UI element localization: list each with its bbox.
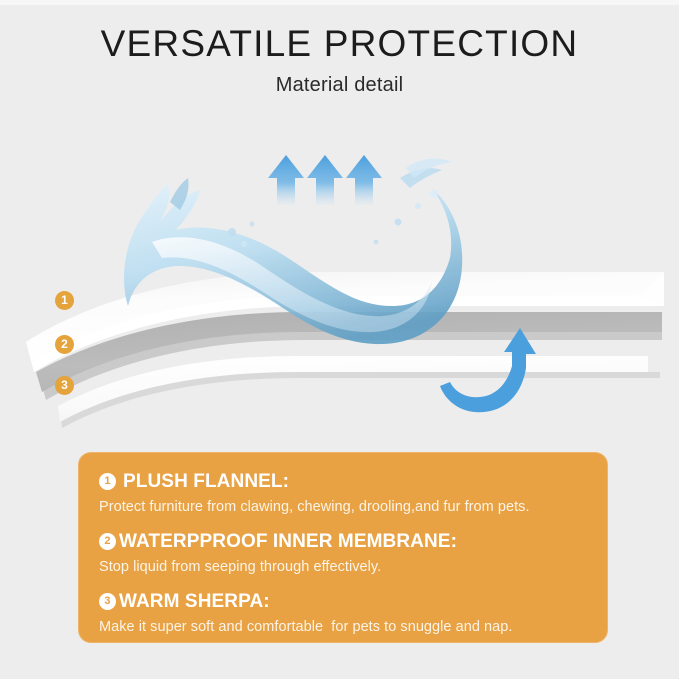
feature-description-2: Stop liquid from seeping through effecti…	[99, 556, 587, 578]
header: VERSATILE PROTECTION Material detail	[0, 22, 679, 98]
top-edge-strip	[0, 0, 679, 5]
feature-heading: 1 PLUSH FLANNEL:	[99, 469, 587, 494]
diagram-badge-3: 3	[55, 376, 74, 395]
feature-title-2: WATERPPROOF INNER MEMBRANE:	[119, 529, 457, 554]
feature-description-1: Protect furniture from clawing, chewing,…	[99, 496, 587, 518]
feature-heading: 2 WATERPPROOF INNER MEMBRANE:	[99, 529, 587, 554]
material-layers-diagram: 1 2 3	[0, 110, 679, 430]
feature-title-3: WARM SHERPA:	[119, 589, 270, 614]
feature-description-3: Make it super soft and comfortable for p…	[99, 616, 587, 638]
feature-item-plush-flannel: 1 PLUSH FLANNEL: Protect furniture from …	[99, 469, 587, 518]
feature-item-waterproof-membrane: 2 WATERPPROOF INNER MEMBRANE: Stop liqui…	[99, 529, 587, 578]
diagram-badge-1: 1	[55, 291, 74, 310]
feature-list-panel: 1 PLUSH FLANNEL: Protect furniture from …	[78, 452, 608, 643]
page-title: VERSATILE PROTECTION	[0, 22, 679, 66]
layers-svg	[0, 110, 679, 430]
page-subtitle: Material detail	[0, 72, 679, 98]
feature-badge-1: 1	[99, 473, 116, 490]
feature-badge-3: 3	[99, 593, 116, 610]
feature-item-warm-sherpa: 3 WARM SHERPA: Make it super soft and co…	[99, 589, 587, 638]
feature-title-1: PLUSH FLANNEL:	[123, 469, 289, 494]
feature-badge-2: 2	[99, 533, 116, 550]
repel-arrows-icon	[268, 155, 382, 205]
feature-heading: 3 WARM SHERPA:	[99, 589, 587, 614]
diagram-badge-2: 2	[55, 335, 74, 354]
layer-warm-sherpa	[58, 356, 660, 428]
